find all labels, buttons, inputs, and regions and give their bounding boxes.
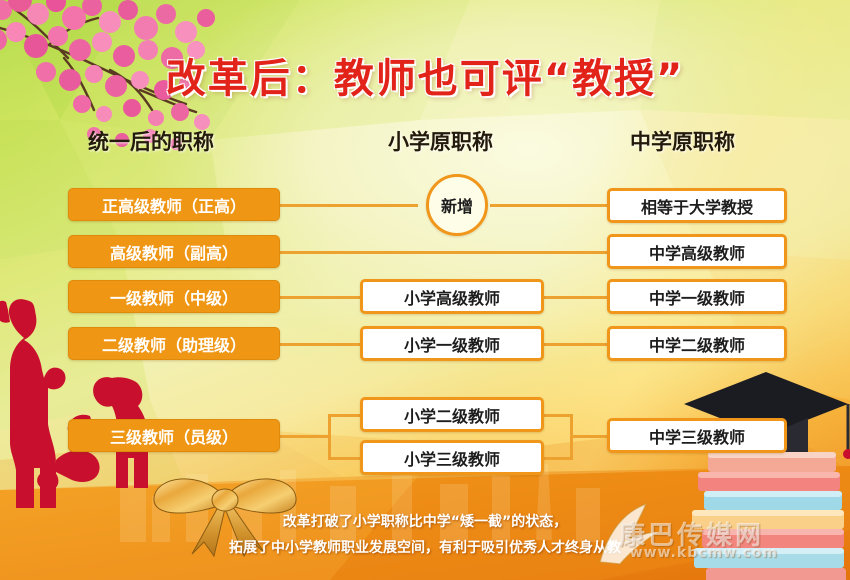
- secondary-title-label-1: 相等于大学教授: [641, 194, 753, 218]
- unified-title-label-3: 一级教师（中级）: [110, 285, 238, 309]
- column-header-secondary: 中学原职称: [630, 126, 735, 156]
- secondary-title-box-1[interactable]: 相等于大学教授: [607, 188, 787, 223]
- connector-row-5-to-box-a: [328, 414, 360, 417]
- primary-title-label-2: 小学高级教师: [404, 285, 500, 309]
- secondary-title-box-3[interactable]: 中学一级教师: [607, 279, 787, 314]
- connector-row-1-left: [278, 204, 418, 207]
- connector-row-5-from-box-b: [543, 457, 573, 460]
- secondary-title-label-5: 中学三级教师: [649, 424, 745, 448]
- connector-row-4-right: [543, 343, 608, 346]
- primary-title-box-3[interactable]: 小学一级教师: [360, 326, 544, 361]
- connector-row-5-merge-stem: [570, 435, 608, 438]
- column-header-unified: 统一后的职称: [88, 126, 214, 156]
- connector-row-5-right-bracket: [570, 414, 573, 460]
- unified-title-label-4: 二级教师（助理级）: [102, 332, 246, 356]
- secondary-title-label-4: 中学二级教师: [649, 332, 745, 356]
- connector-row-1-right: [490, 204, 608, 207]
- primary-title-box-5[interactable]: 小学三级教师: [360, 440, 544, 475]
- connector-row-5-from-box-a: [543, 414, 573, 417]
- unified-title-box-1[interactable]: 正高级教师（正高）: [68, 188, 280, 221]
- primary-title-box-2[interactable]: 小学高级教师: [360, 279, 544, 314]
- connector-row-3-left: [278, 296, 360, 299]
- secondary-title-box-5[interactable]: 中学三级教师: [607, 418, 787, 453]
- secondary-title-label-3: 中学一级教师: [649, 285, 745, 309]
- page-title: 改革后：教师也可评“教授”: [0, 46, 850, 104]
- unified-title-label-2: 高级教师（副高）: [110, 240, 238, 264]
- poster-canvas: 改革后：教师也可评“教授” 统一后的职称 小学原职称 中学原职称 正高级教师（正…: [0, 0, 850, 580]
- unified-title-box-5[interactable]: 三级教师（员级）: [68, 419, 280, 452]
- connector-row-5-to-box-b: [328, 457, 360, 460]
- footer-line-1: 改革打破了小学职称比中学“矮一截”的状态，: [0, 511, 850, 531]
- unified-title-box-4[interactable]: 二级教师（助理级）: [68, 327, 280, 360]
- secondary-title-label-2: 中学高级教师: [649, 240, 745, 264]
- primary-title-label-3: 小学一级教师: [404, 332, 500, 356]
- primary-title-label-4: 小学二级教师: [404, 403, 500, 427]
- primary-new-badge[interactable]: 新增: [426, 174, 488, 236]
- unified-title-box-3[interactable]: 一级教师（中级）: [68, 280, 280, 313]
- watermark-logo-icon: [590, 498, 662, 570]
- connector-row-3-right: [543, 296, 608, 299]
- column-header-primary: 小学原职称: [388, 126, 493, 156]
- connector-row-4-left: [278, 343, 360, 346]
- unified-title-label-5: 三级教师（员级）: [110, 424, 238, 448]
- primary-title-label-5: 小学三级教师: [404, 446, 500, 470]
- secondary-title-box-2[interactable]: 中学高级教师: [607, 234, 787, 269]
- secondary-title-box-4[interactable]: 中学二级教师: [607, 326, 787, 361]
- primary-title-box-4[interactable]: 小学二级教师: [360, 397, 544, 432]
- connector-row-5-left-bracket: [328, 414, 331, 460]
- connector-row-5-stem: [278, 435, 330, 438]
- unified-title-box-2[interactable]: 高级教师（副高）: [68, 235, 280, 268]
- footer-line-2: 拓展了中小学教师职业发展空间，有利于吸引优秀人才终身从教: [0, 537, 850, 557]
- primary-new-badge-label: 新增: [441, 193, 473, 217]
- connector-row-2: [278, 251, 608, 254]
- unified-title-label-1: 正高级教师（正高）: [102, 193, 246, 217]
